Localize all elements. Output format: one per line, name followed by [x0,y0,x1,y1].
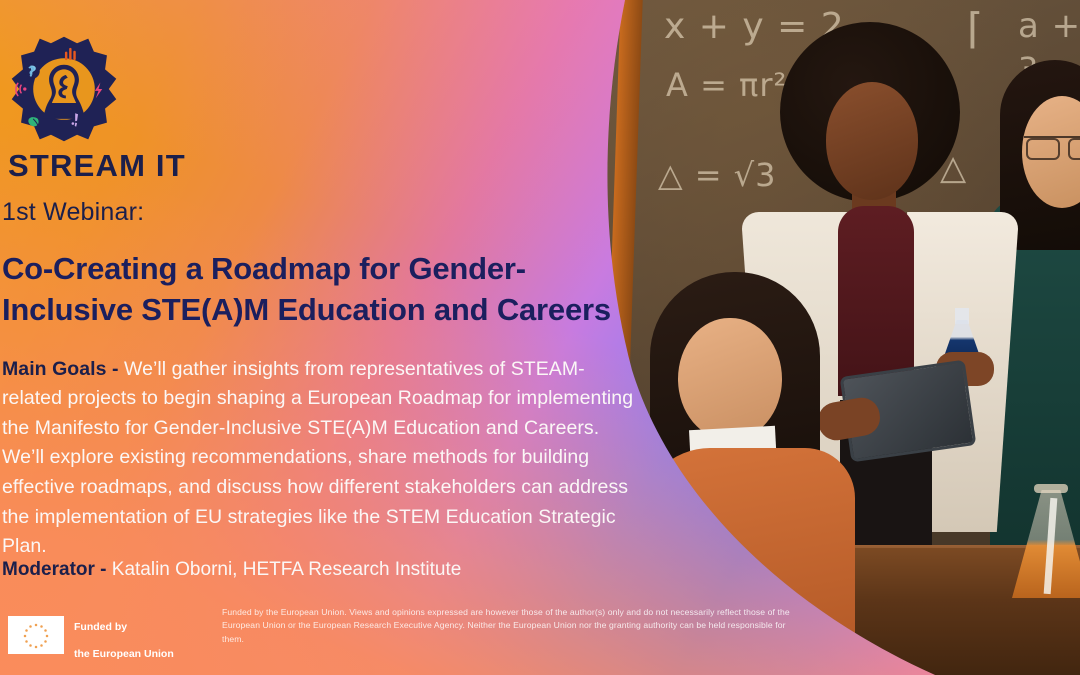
eu-disclaimer: Funded by the European Union. Views and … [222,606,802,646]
brand-wordmark: STREAM IT [8,150,208,181]
footer: Funded by the European Union Funded by t… [0,600,820,660]
webinar-poster: x + y = 2 A = πr² △ = √3 a + b 3 = 3 f =… [0,0,1080,675]
brand-logo-block: STREAM IT [8,30,208,181]
poster-content: STREAM IT 1st Webinar: Co-Creating a Roa… [0,0,1080,675]
eu-funding-badge: Funded by the European Union [8,608,174,662]
page-title-line-2: Inclusive STE(A)M Education and Careers [2,292,611,327]
page-title: Co-Creating a Roadmap for Gender- Inclus… [2,249,642,331]
gear-woman-logo-icon [8,30,120,148]
moderator-name: Katalin Oborni, HETFA Research Institute [112,559,462,580]
moderator-line: Moderator - Katalin Oborni, HETFA Resear… [2,559,461,581]
webinar-kicker: 1st Webinar: [2,198,144,227]
eu-funding-label: Funded by the European Union [74,608,174,662]
eu-funding-label-line-2: the European Union [74,648,174,660]
page-title-line-1: Co-Creating a Roadmap for Gender- [2,251,526,286]
eu-flag-icon [8,616,64,654]
moderator-label: Moderator - [2,559,112,580]
main-goals-text: We’ll gather insights from representativ… [2,358,633,558]
main-goals-label: Main Goals - [2,358,124,380]
main-goals-paragraph: Main Goals - We’ll gather insights from … [2,355,642,562]
eu-funding-label-line-1: Funded by [74,621,127,633]
